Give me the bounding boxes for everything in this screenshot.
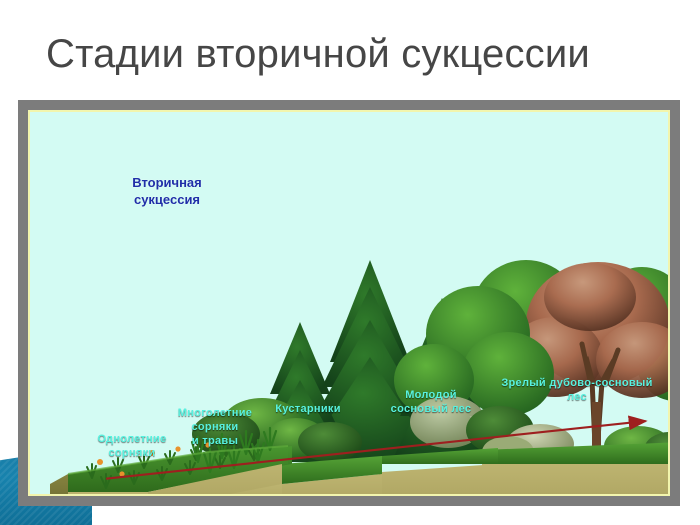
inner-heading-line-2: сукцессия (92, 191, 242, 208)
stage-label-line-1: Молодой (366, 388, 496, 402)
illustration-frame: Вторичная сукцессия Однолетние сорняки М… (18, 100, 680, 506)
inner-heading: Вторичная сукцессия (92, 174, 242, 208)
stage-label-shrubs: Кустарники (258, 402, 358, 416)
stage-label-line-1: Зрелый дубово-сосновый (482, 376, 668, 390)
slide-canvas: Стадии вторичной сукцессии (0, 0, 700, 525)
inner-heading-line-1: Вторичная (92, 174, 242, 191)
illustration-canvas: Вторичная сукцессия Однолетние сорняки М… (30, 112, 668, 494)
page-title: Стадии вторичной сукцессии (46, 28, 666, 80)
stage-label-line-1: Кустарники (258, 402, 358, 416)
stage-label-line-2: лес (482, 390, 668, 404)
stage-label-line-2: сорняки (160, 420, 270, 434)
stage-label-young-pine-forest: Молодой сосновый лес (366, 388, 496, 416)
stage-label-line-2: сорняки (72, 446, 192, 460)
stage-label-mature-oak-pine: Зрелый дубово-сосновый лес (482, 376, 668, 404)
stage-label-line-3: и травы (160, 434, 270, 448)
stage-label-perennial-weeds: Многолетние сорняки и травы (160, 406, 270, 448)
stage-label-line-1: Многолетние (160, 406, 270, 420)
stage-label-line-2: сосновый лес (366, 402, 496, 416)
frame-inner-edge: Вторичная сукцессия Однолетние сорняки М… (28, 110, 670, 496)
